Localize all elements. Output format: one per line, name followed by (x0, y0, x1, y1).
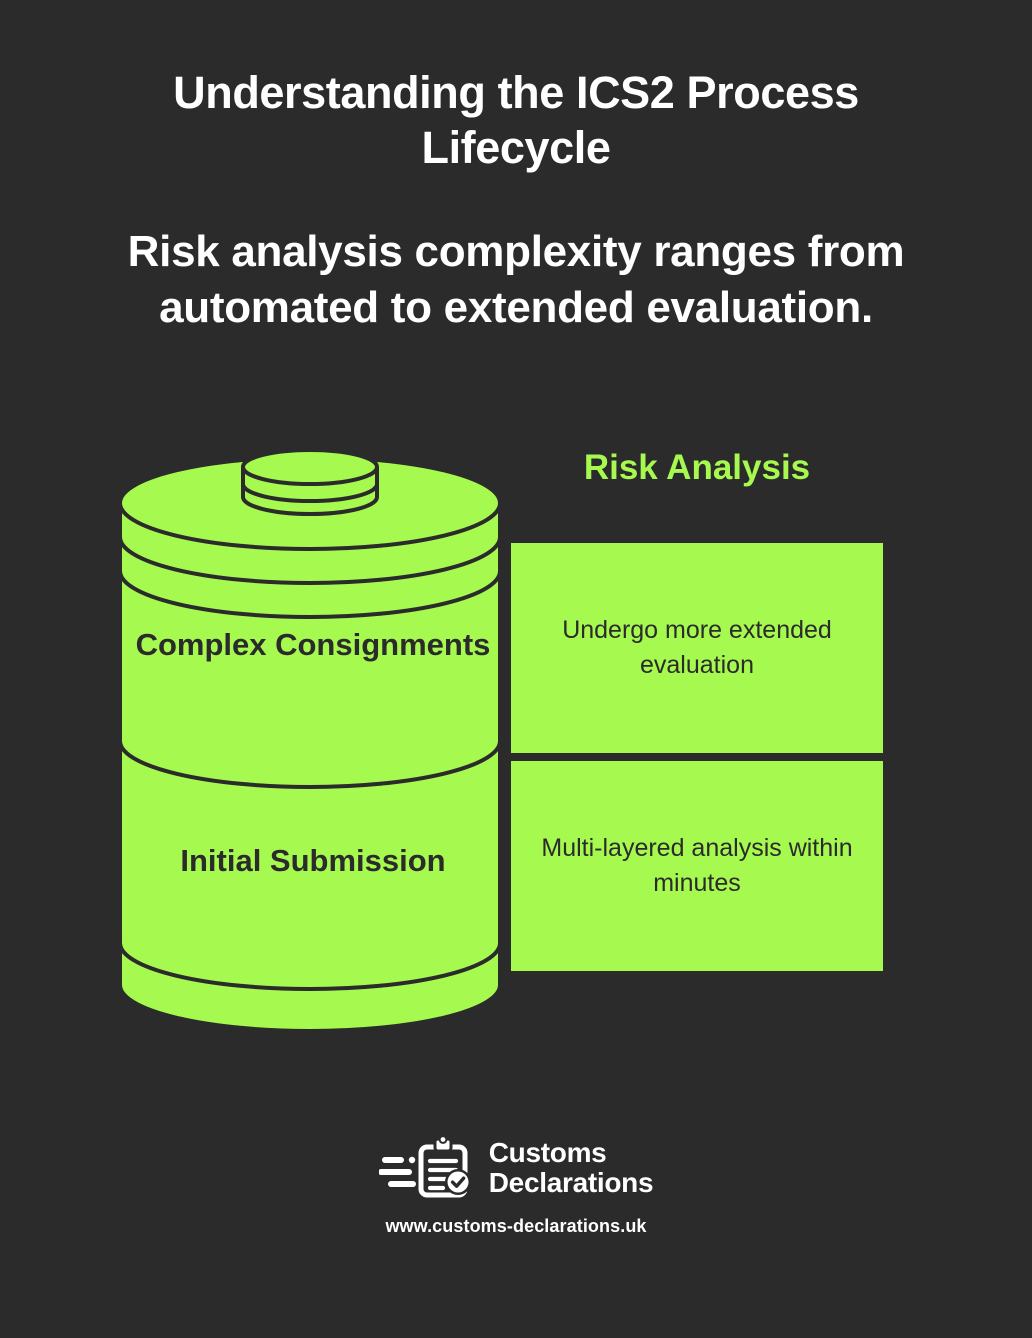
stacked-cylinder-graphic (110, 445, 510, 1045)
brand-wordmark: Customs Declarations (489, 1138, 653, 1197)
cylinder-segment-label-initial: Initial Submission (118, 838, 508, 885)
brand-line-customs: Customs (489, 1138, 653, 1168)
risk-analysis-box-text: Multi-layered analysis within minutes (511, 831, 883, 902)
site-url: www.customs-declarations.uk (0, 1216, 1032, 1237)
page-subtitle: Risk analysis complexity ranges from aut… (0, 176, 1032, 337)
brand-logo: Customs Declarations (0, 1136, 1032, 1200)
brand-line-declarations: Declarations (489, 1168, 653, 1198)
clipboard-check-icon (379, 1136, 475, 1200)
risk-analysis-box-extended-evaluation: Undergo more extended evaluation (508, 540, 886, 756)
risk-analysis-box-text: Undergo more extended evaluation (511, 613, 883, 684)
infographic-page: Understanding the ICS2 Process Lifecycle… (0, 0, 1032, 1338)
risk-analysis-heading: Risk Analysis (508, 448, 886, 488)
page-title: Understanding the ICS2 Process Lifecycle (0, 0, 1032, 176)
header: Understanding the ICS2 Process Lifecycle… (0, 0, 1032, 336)
diagram: Complex Consignments Initial Submission … (0, 430, 1032, 1090)
cylinder-segment-label-complex: Complex Consignments (118, 622, 508, 669)
risk-analysis-box-multi-layered: Multi-layered analysis within minutes (508, 758, 886, 974)
footer: Customs Declarations www.customs-declara… (0, 1136, 1032, 1237)
